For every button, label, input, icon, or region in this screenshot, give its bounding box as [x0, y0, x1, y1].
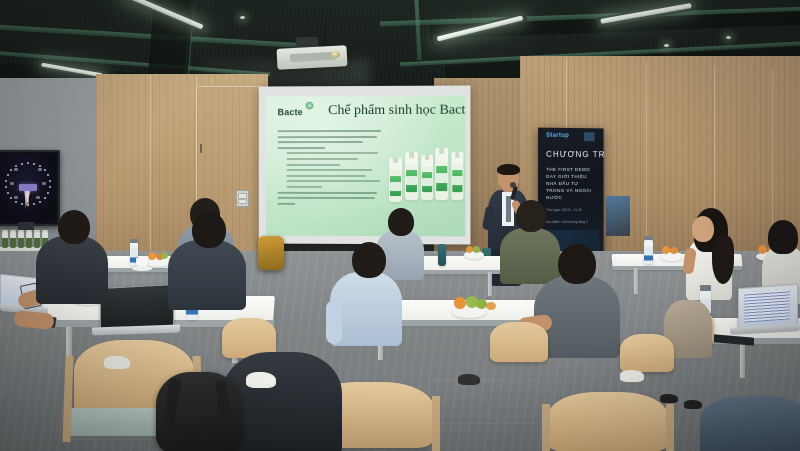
- white-shoe: [620, 370, 644, 382]
- orange-fruit: [454, 297, 466, 309]
- audience-member-mid-left-2: [168, 240, 246, 310]
- carpet-tile: [428, 380, 553, 424]
- banner-partner-logo: [584, 132, 595, 141]
- green-leaf-icon: ❂: [305, 101, 313, 112]
- product-bottle: [405, 152, 418, 200]
- audience-member-center: [500, 228, 560, 284]
- dark-shoe: [458, 374, 480, 385]
- conference-room-photo: Bacte ❂ Chế phẩm sinh học Bacte: [0, 0, 800, 451]
- bottle-cap: [644, 236, 653, 240]
- banner-detail-line-1: Thời gian: 08:30 - 11:30: [546, 208, 596, 214]
- orange-fruit: [670, 247, 678, 254]
- water-bottle: [644, 240, 653, 264]
- audience-member-mid-left: [36, 236, 108, 304]
- chair-back-foreground[interactable]: [548, 392, 668, 451]
- table-leg: [634, 268, 638, 294]
- projector-lens: [331, 51, 340, 58]
- laptop-content: [744, 289, 790, 322]
- tumbler: [438, 244, 446, 266]
- microphone-head: [510, 182, 516, 188]
- chair-back[interactable]: [490, 322, 548, 362]
- presenter-tie: [506, 196, 511, 222]
- product-bottle: [451, 152, 463, 200]
- product-bottle: [421, 155, 433, 200]
- banner-heading: CHƯƠNG TRÌNH: [546, 150, 603, 160]
- orange-fruit: [148, 252, 156, 260]
- chair-back[interactable]: [620, 334, 674, 372]
- white-shoe: [246, 372, 276, 388]
- product-bottle: [435, 148, 448, 200]
- dial-center-label: [19, 184, 37, 191]
- chair-leg: [432, 396, 440, 451]
- audience-head: [388, 208, 414, 236]
- green-fruit: [161, 252, 168, 259]
- tv-stand: [18, 222, 34, 230]
- wall-switch[interactable]: [238, 199, 247, 204]
- audience-head: [352, 242, 386, 278]
- audience-head: [58, 210, 90, 244]
- audience-hair: [768, 220, 798, 254]
- table-leg: [740, 344, 745, 378]
- door-handle[interactable]: [200, 144, 202, 153]
- ceiling-downlight: [240, 16, 245, 19]
- audience-arm: [326, 300, 342, 344]
- table-leg: [488, 272, 492, 296]
- audience-head: [558, 244, 596, 284]
- shoe: [660, 394, 678, 403]
- slide-title: Chế phẩm sinh học Bacte: [328, 103, 465, 119]
- projected-slide: Bacte ❂ Chế phẩm sinh học Bacte: [266, 96, 466, 237]
- audience-member-foreground-right: [700, 396, 800, 451]
- bottle-cap: [130, 239, 138, 243]
- ceiling-downlight: [726, 36, 731, 39]
- bottle-cap: [700, 285, 711, 291]
- audience-head: [192, 212, 226, 248]
- chair-leg: [542, 404, 550, 451]
- chair-leg: [666, 404, 674, 451]
- green-fruit: [473, 246, 480, 253]
- saucer: [132, 266, 152, 271]
- orange-fruit: [466, 246, 473, 253]
- tv-screen: [0, 154, 56, 222]
- audience-head: [516, 200, 546, 232]
- side-display: [606, 196, 630, 236]
- white-shoe: [104, 356, 130, 369]
- audience-head: [692, 216, 714, 242]
- banner-detail-line-2: Địa điểm: Hội trường tầng 2: [546, 220, 596, 226]
- banner-logo: Startup: [546, 133, 569, 139]
- ceiling-downlight: [664, 44, 669, 47]
- audience-hair-ponytail: [712, 236, 734, 284]
- product-bottle: [389, 158, 402, 202]
- orange-fruit: [662, 246, 670, 254]
- yellow-bag: [258, 236, 284, 270]
- wall-tv-display: [0, 150, 60, 226]
- slide-body-block: [278, 130, 385, 208]
- slide-logo-text: Bacte: [278, 107, 303, 117]
- presenter-hair: [497, 164, 520, 175]
- banner-subheading: THE FIRST DEMO DAY GIỚI THIỆU NHÀ ĐẦU TƯ…: [546, 166, 598, 202]
- orange-fruit: [486, 302, 496, 310]
- shoe: [684, 400, 702, 409]
